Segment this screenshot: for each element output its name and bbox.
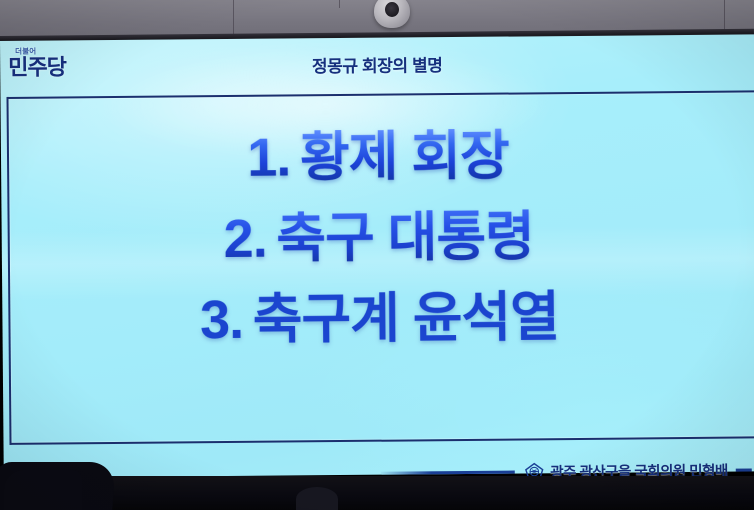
list-item: 2.축구 대통령	[2, 207, 754, 269]
list-item-text: 축구계 윤석열	[253, 287, 560, 350]
list-item: 1.황제 회장	[1, 126, 754, 188]
ceiling-panel-seam	[233, 0, 234, 34]
slide-title: 정몽규 회장의 별명	[0, 48, 754, 80]
list-item: 3.축구계 윤석열	[2, 289, 754, 351]
sensor-lens-icon	[385, 2, 399, 17]
foreground-microphone-silhouette	[296, 487, 338, 510]
list-item-text: 황제 회장	[300, 126, 509, 188]
list-item-text: 축구 대통령	[276, 206, 534, 268]
list-item-number: 2.	[223, 209, 267, 269]
screenshot-scene: 더불어 민주당 정몽규 회장의 별명 1.황제 회장 2.축구 대통령 3.축구…	[0, 0, 754, 510]
list-item-number: 3.	[200, 290, 244, 350]
ceiling-sensor-icon	[374, 0, 410, 28]
presentation-slide: 더불어 민주당 정몽규 회장의 별명 1.황제 회장 2.축구 대통령 3.축구…	[0, 34, 754, 478]
list-item-number: 1.	[247, 127, 291, 187]
nickname-list: 1.황제 회장 2.축구 대통령 3.축구계 윤석열	[1, 126, 754, 350]
ceiling-panel-seam	[339, 0, 340, 8]
footer-divider-line-right	[736, 469, 752, 472]
footer-divider-line	[381, 471, 515, 475]
foreground-silhouette-secondary	[4, 470, 82, 510]
